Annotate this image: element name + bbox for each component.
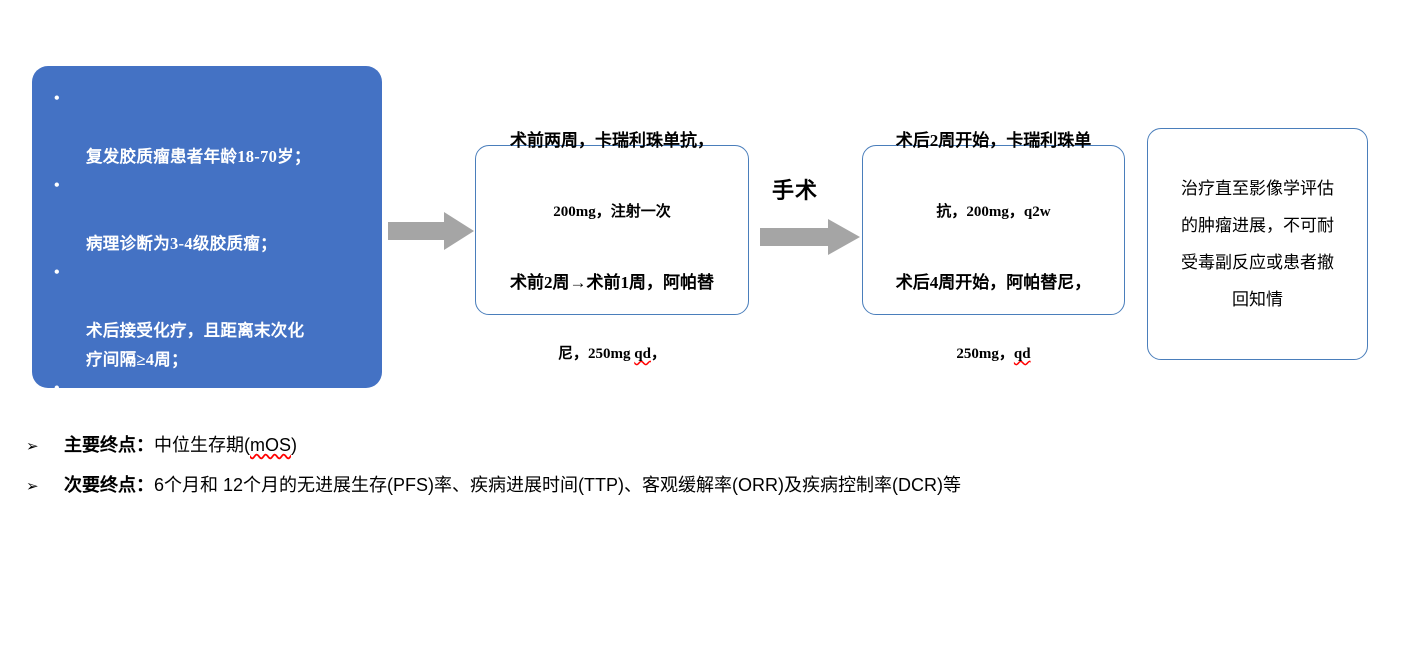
postoperative-treatment-text: 术后2周开始，卡瑞利珠单 抗，200mg，q2w 术后4周开始，阿帕替尼， 25… (888, 88, 1100, 372)
postop-line-1: 术后2周开始，卡瑞利珠单 (896, 131, 1092, 150)
eligibility-bullet-2-text: 病理诊断为3-4级胶质瘤； (86, 234, 277, 253)
treatment-until-progression-text: 治疗直至影像学评估 的肿瘤进展，不可耐 受毒副反应或患者撤 回知情 (1173, 170, 1342, 318)
preop-line-2: 200mg，注射一次 (553, 204, 671, 220)
bullet-dot-icon: • (54, 84, 60, 113)
eligibility-bullet-2: • 病理诊断为3-4级胶质瘤； (42, 171, 368, 258)
bullet-dot-icon: • (54, 374, 60, 403)
preop-line-4-suffix: ， (651, 346, 666, 362)
primary-endpoint-row: ➢ 主要终点： 中位生存期(mOS) (26, 432, 1366, 460)
primary-endpoint-label: 主要终点： (64, 432, 154, 459)
preoperative-treatment-box: 术前两周，卡瑞利珠单抗， 200mg，注射一次 术前2周→术前1周，阿帕替 尼，… (475, 145, 749, 315)
postop-line-4-prefix: 250mg， (956, 346, 1014, 362)
surgery-step-label: 手术 (772, 177, 818, 205)
postop-line-2: 抗，200mg，q2w (936, 204, 1050, 220)
arrow-bullet-icon: ➢ (26, 433, 64, 460)
arrow-right-icon-1 (388, 212, 474, 250)
preop-line-4-misspelled-term: qd (634, 346, 651, 362)
eligibility-bullet-1: • 复发胶质瘤患者年龄18-70岁； (42, 84, 368, 171)
primary-endpoint-misspelled-term: mOS (250, 435, 291, 455)
sample-size-label: N=30 (42, 639, 368, 669)
eligibility-bullet-3-text: 术后接受化疗，且距离末次化 疗间隔≥4周； (86, 321, 304, 369)
preop-line-1: 术前两周，卡瑞利珠单抗， (510, 131, 714, 150)
eligibility-criteria-box: • 复发胶质瘤患者年龄18-70岁； • 病理诊断为3-4级胶质瘤； • 术后接… (32, 66, 382, 388)
postop-line-4-misspelled-term: qd (1014, 346, 1031, 362)
primary-endpoint-suffix: ) (291, 435, 297, 455)
postoperative-treatment-box: 术后2周开始，卡瑞利珠单 抗，200mg，q2w 术后4周开始，阿帕替尼， 25… (862, 145, 1125, 315)
preop-line-4-prefix: 尼，250mg (558, 346, 634, 362)
eligibility-bullet-5: • KPS评分≥60分 (42, 548, 368, 635)
bullet-dot-icon: • (54, 258, 60, 287)
arrow-bullet-icon: ➢ (26, 473, 64, 500)
eligibility-bullet-1-text: 复发胶质瘤患者年龄18-70岁； (86, 147, 311, 166)
eligibility-bullet-3: • 术后接受化疗，且距离末次化 疗间隔≥4周； (42, 258, 368, 374)
treatment-until-progression-box: 治疗直至影像学评估 的肿瘤进展，不可耐 受毒副反应或患者撤 回知情 (1147, 128, 1368, 360)
study-endpoints-section: ➢ 主要终点： 中位生存期(mOS) ➢ 次要终点： 6个月和 12个月的无进展… (26, 432, 1366, 512)
postop-line-3: 术后4周开始，阿帕替尼， (896, 273, 1092, 292)
secondary-endpoint-value: 6个月和 12个月的无进展生存(PFS)率、疾病进展时间(TTP)、客观缓解率(… (154, 472, 961, 499)
bullet-dot-icon: • (54, 548, 60, 577)
eligibility-bullet-list: • 复发胶质瘤患者年龄18-70岁； • 病理诊断为3-4级胶质瘤； • 术后接… (42, 84, 368, 635)
flowchart-canvas: • 复发胶质瘤患者年龄18-70岁； • 病理诊断为3-4级胶质瘤； • 术后接… (0, 0, 1412, 542)
primary-endpoint-prefix: 中位生存期( (154, 435, 250, 455)
primary-endpoint-value: 中位生存期(mOS) (154, 432, 297, 459)
arrow-right-icon-2 (760, 219, 860, 255)
bullet-dot-icon: • (54, 171, 60, 200)
preoperative-treatment-text: 术前两周，卡瑞利珠单抗， 200mg，注射一次 术前2周→术前1周，阿帕替 尼，… (502, 88, 722, 372)
secondary-endpoint-row: ➢ 次要终点： 6个月和 12个月的无进展生存(PFS)率、疾病进展时间(TTP… (26, 472, 1366, 500)
eligibility-bullet-5-text: KPS评分≥60分 (86, 611, 196, 630)
secondary-endpoint-label: 次要终点： (64, 472, 154, 499)
preop-line-3: 术前2周→术前1周，阿帕替 (510, 273, 714, 292)
